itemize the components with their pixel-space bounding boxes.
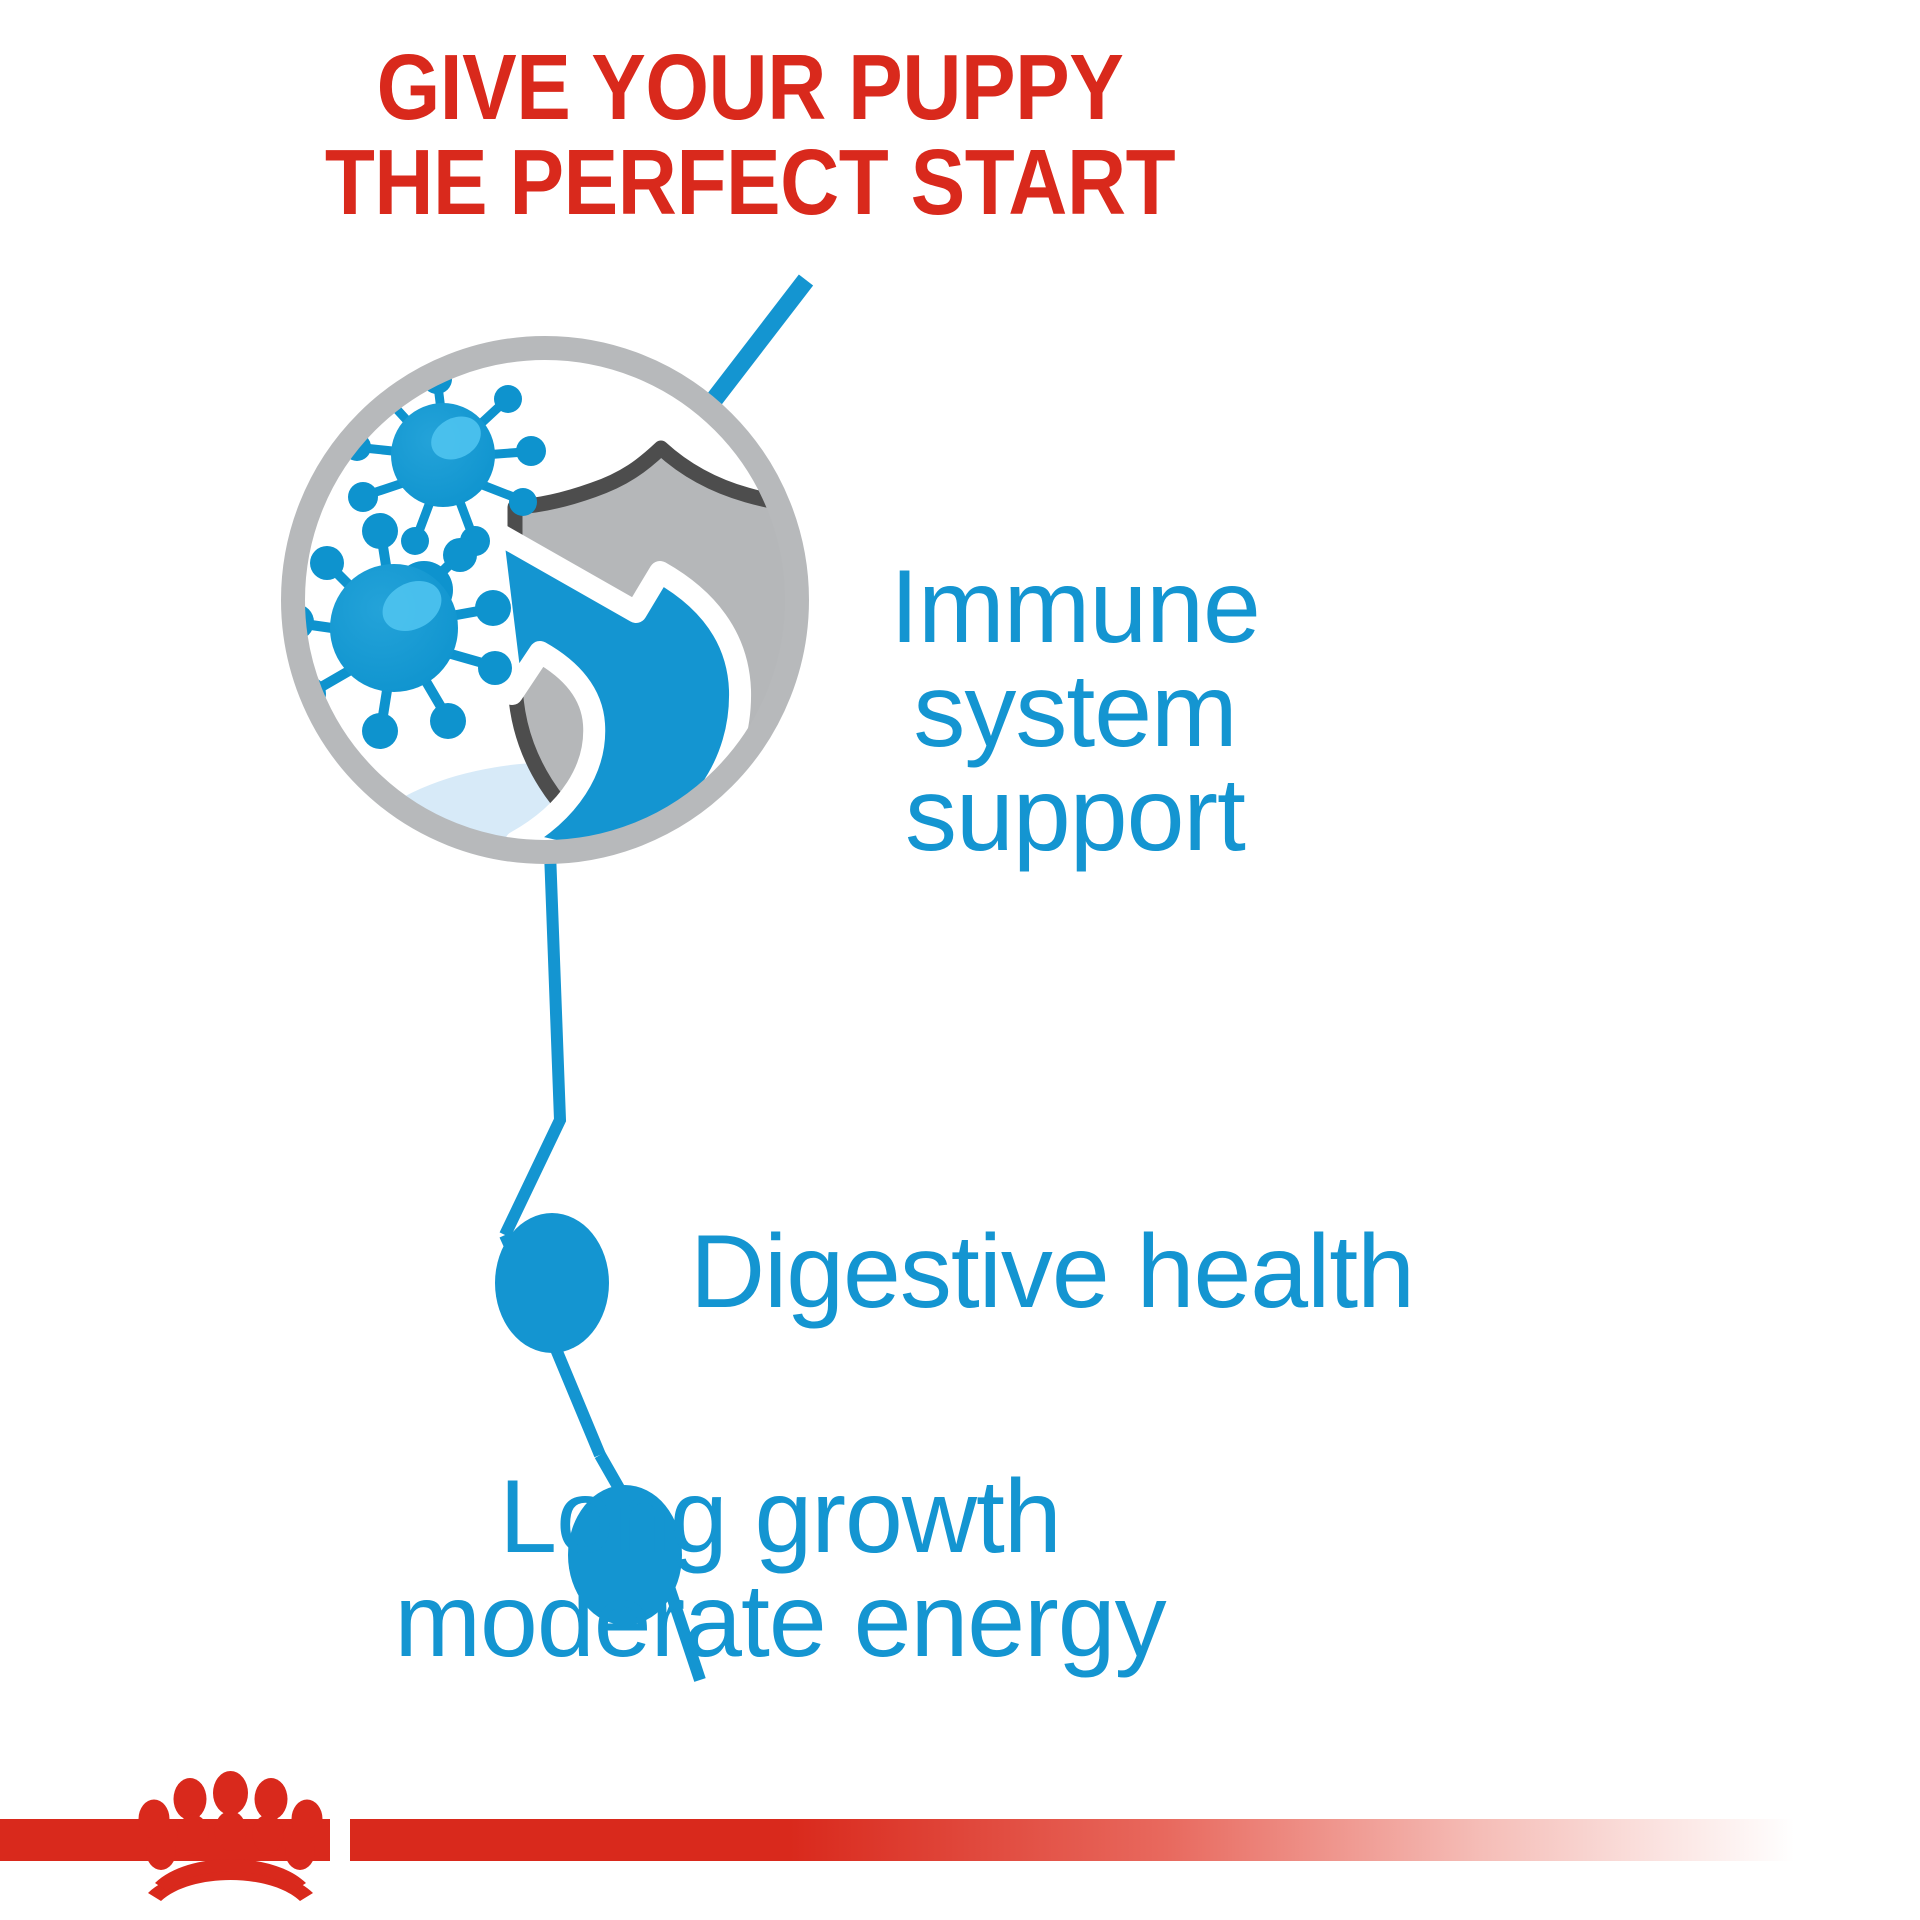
benefit-label-digestive: Digestive health (690, 1220, 1414, 1324)
royal-canin-crown-icon (128, 1771, 333, 1901)
infographic-root: GIVE YOUR PUPPY THE PERFECT START (0, 0, 1920, 1920)
benefit-label-immune: Immune system support (815, 555, 1335, 867)
benefit-label-growth: Long growth moderate energy (394, 1465, 1165, 1673)
footer-bar-right-fade (350, 1819, 1920, 1861)
node-dot-digestive (495, 1213, 609, 1353)
